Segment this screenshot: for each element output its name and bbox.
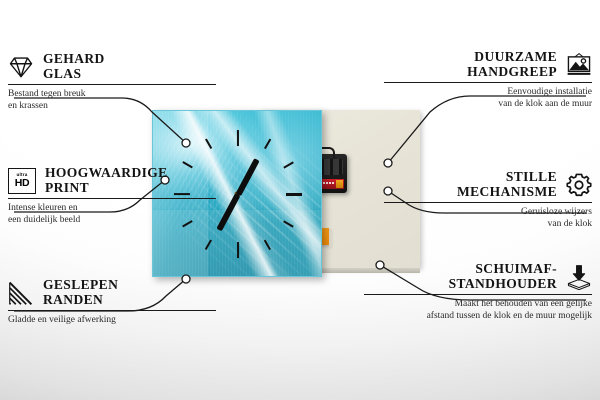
- feature-divider: [8, 310, 216, 311]
- feature-desc-line2: afstand tussen de klok en de muur mogeli…: [364, 311, 592, 323]
- feature-divider: [384, 202, 592, 203]
- feature-desc-line1: Gladde en veilige afwerking: [8, 315, 216, 327]
- feature-description: Bestand tegen breuk en krassen: [8, 89, 216, 112]
- feature-head: SCHUIMAF- STANDHOUDER: [364, 262, 592, 291]
- feature-head: GEHARD GLAS: [8, 52, 216, 81]
- feature-head: DUURZAME HANDGREEP: [384, 50, 592, 79]
- feature-title: STILLE MECHANISME: [457, 170, 557, 199]
- feature-desc-line1: Bestand tegen breuk: [8, 89, 216, 101]
- feature-gehard-glas: GEHARD GLAS Bestand tegen breuk en krass…: [8, 52, 216, 112]
- feature-description: Maakt het behouden van een gelijke afsta…: [364, 299, 592, 322]
- feature-head: ultra HD HOOGWAARDIGE PRINT: [8, 166, 216, 195]
- feature-divider: [8, 198, 216, 199]
- feature-description: Intense kleuren en een duidelijk beeld: [8, 203, 216, 226]
- feature-title-line2: STANDHOUDER: [449, 277, 557, 292]
- feature-title-line1: STILLE: [457, 170, 557, 185]
- feature-geslepen-randen: GESLEPEN RANDEN Gladde en veilige afwerk…: [8, 278, 216, 327]
- feature-title-line1: DUURZAME: [467, 50, 557, 65]
- feature-description: Eenvoudige installatie van de klok aan d…: [384, 87, 592, 110]
- infographic-canvas: GEHARD GLAS Bestand tegen breuk en krass…: [0, 0, 600, 400]
- feature-description: Geruisloze wijzers van de klok: [384, 207, 592, 230]
- feature-desc-line2: van de klok: [384, 219, 592, 231]
- feature-desc-line1: Intense kleuren en: [8, 203, 216, 215]
- beveled-edge-icon: [8, 280, 34, 306]
- spacer-press-icon: [566, 264, 592, 290]
- feature-title-line2: RANDEN: [43, 293, 118, 308]
- ultra-hd-icon: ultra HD: [8, 168, 36, 194]
- feature-title-line2: HANDGREEP: [467, 65, 557, 80]
- feature-desc-line2: een duidelijk beeld: [8, 215, 216, 227]
- feature-divider: [8, 84, 216, 85]
- feature-head: STILLE MECHANISME: [384, 170, 592, 199]
- feature-stille-mechanisme: STILLE MECHANISME Geruisloze wijzers van…: [384, 170, 592, 230]
- feature-duurzame-handgreep: DUURZAME HANDGREEP Eenvoudige installati…: [384, 50, 592, 110]
- picture-frame-icon: [566, 52, 592, 78]
- feature-divider: [384, 82, 592, 83]
- gear-icon: [566, 172, 592, 198]
- feature-title: HOOGWAARDIGE PRINT: [45, 166, 168, 195]
- feature-title: GEHARD GLAS: [43, 52, 105, 81]
- ultra-hd-icon-main: HD: [15, 178, 30, 189]
- feature-desc-line1: Eenvoudige installatie: [384, 87, 592, 99]
- feature-divider: [364, 294, 592, 295]
- diamond-icon: [8, 54, 34, 80]
- feature-desc-line1: Geruisloze wijzers: [384, 207, 592, 219]
- feature-title-line1: GEHARD: [43, 52, 105, 67]
- feature-title-line2: MECHANISME: [457, 185, 557, 200]
- feature-desc-line2: en krassen: [8, 101, 216, 113]
- clock-tick: [237, 130, 239, 146]
- feature-title-line2: GLAS: [43, 67, 105, 82]
- feature-description: Gladde en veilige afwerking: [8, 315, 216, 327]
- feature-desc-line1: Maakt het behouden van een gelijke: [364, 299, 592, 311]
- feature-title-line2: PRINT: [45, 181, 168, 196]
- clock-tick: [286, 193, 302, 195]
- feature-desc-line2: van de klok aan de muur: [384, 99, 592, 111]
- clock-tick: [237, 242, 239, 258]
- feature-title: DUURZAME HANDGREEP: [467, 50, 557, 79]
- feature-title: SCHUIMAF- STANDHOUDER: [449, 262, 557, 291]
- feature-title: GESLEPEN RANDEN: [43, 278, 118, 307]
- feature-hoogwaardige-print: ultra HD HOOGWAARDIGE PRINT Intense kleu…: [8, 166, 216, 226]
- feature-schuimafstandhouder: SCHUIMAF- STANDHOUDER Maakt het behouden…: [364, 262, 592, 322]
- feature-title-line1: HOOGWAARDIGE: [45, 166, 168, 181]
- feature-title-line1: SCHUIMAF-: [449, 262, 557, 277]
- feature-head: GESLEPEN RANDEN: [8, 278, 216, 307]
- feature-title-line1: GESLEPEN: [43, 278, 118, 293]
